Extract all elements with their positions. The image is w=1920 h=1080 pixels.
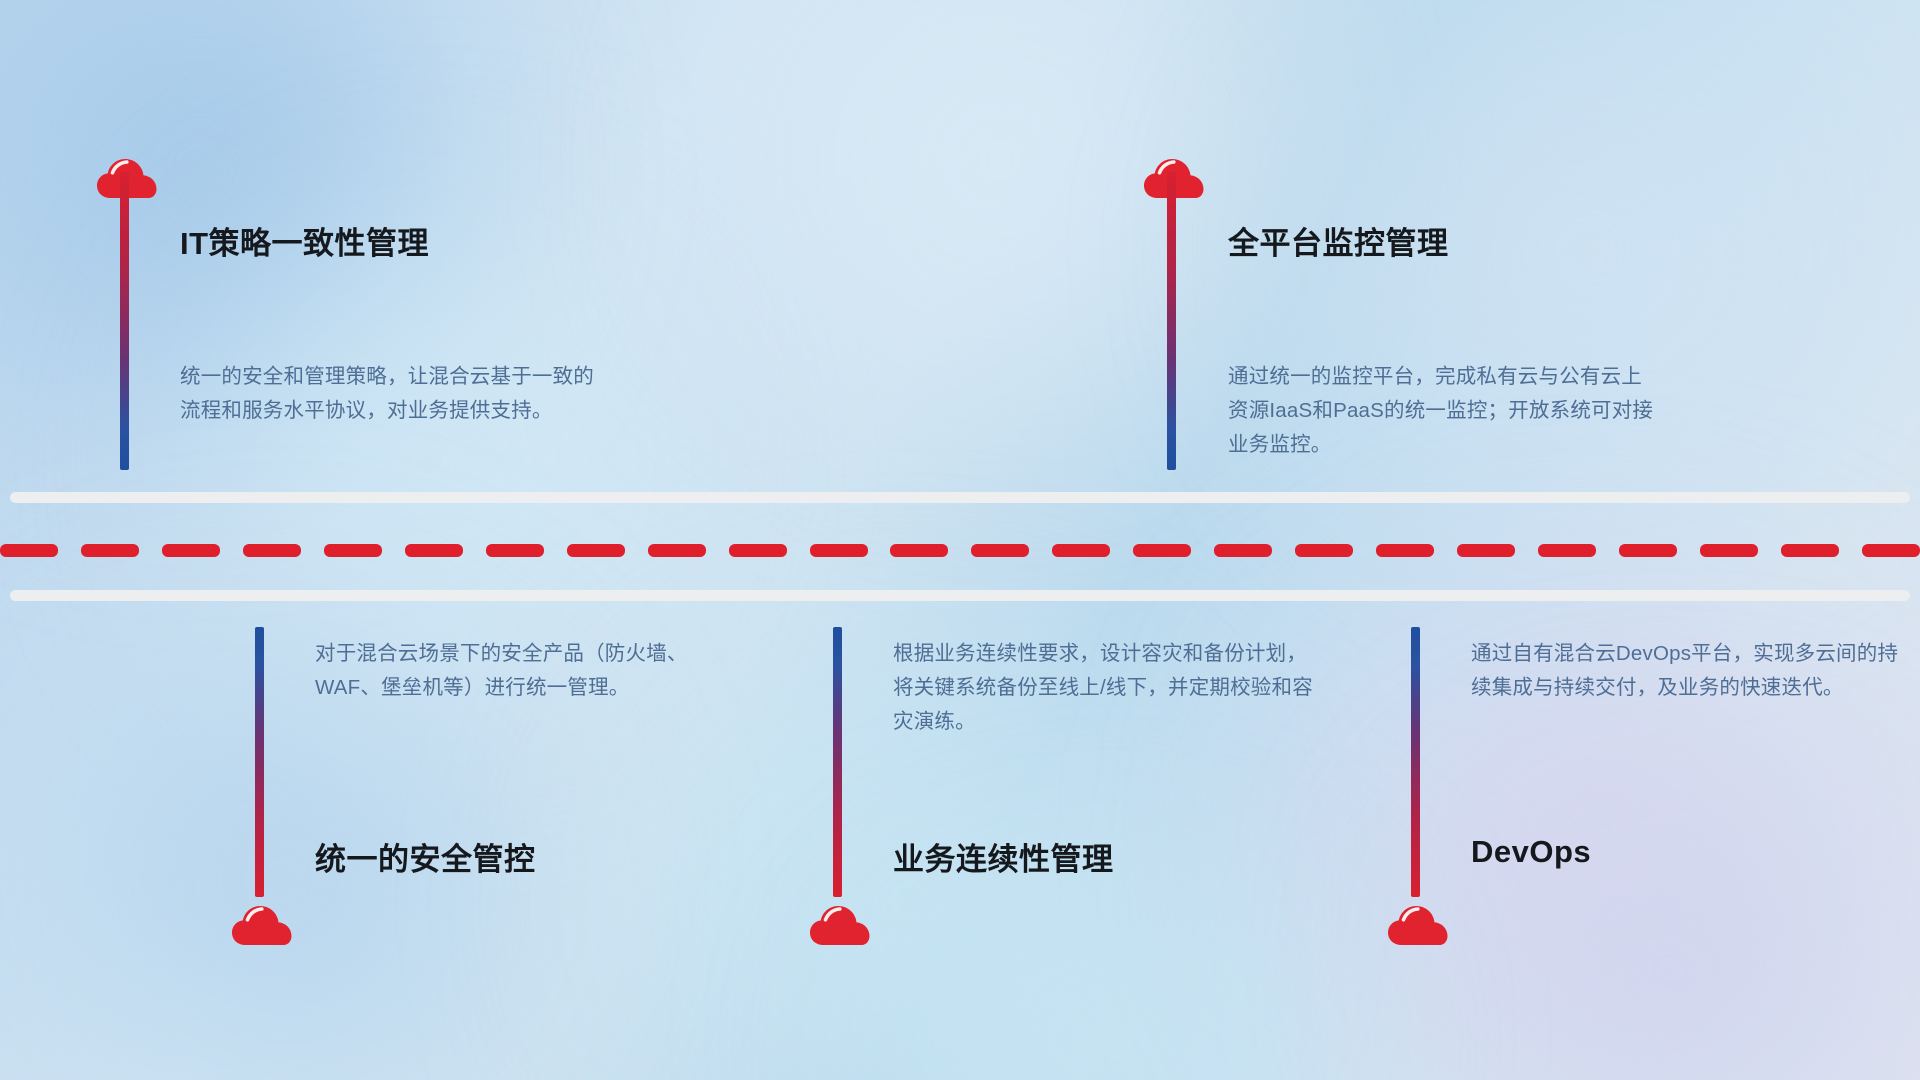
road-dash-segment — [162, 544, 220, 557]
road-dash-segment — [1133, 544, 1191, 557]
bottom-card-3[interactable]: 通过自有混合云DevOps平台，实现多云间的持续集成与持续交付，及业务的快速迭代… — [0, 612, 700, 1080]
road-divider — [0, 488, 1920, 612]
road-dash-segment — [810, 544, 868, 557]
road-dash-segment — [81, 544, 139, 557]
road-dash-segment — [1700, 544, 1758, 557]
road-dash-segment — [1457, 544, 1515, 557]
cloud-icon — [1387, 902, 1449, 946]
cloud-icon — [809, 902, 871, 946]
top-row: IT策略一致性管理 统一的安全和管理策略，让混合云基于一致的流程和服务水平协议，… — [0, 0, 1920, 488]
timeline-stem — [120, 172, 129, 470]
bottom-card-2-heading: 业务连续性管理 — [893, 834, 1114, 879]
road-dash-segment — [1052, 544, 1110, 557]
bottom-row: 对于混合云场景下的安全产品（防火墙、WAF、堡垒机等）进行统一管理。 统一的安全… — [0, 612, 1920, 1080]
road-edge-top — [10, 492, 1910, 503]
road-dash-segment — [405, 544, 463, 557]
road-edge-bottom — [10, 590, 1910, 601]
road-dash-segment — [324, 544, 382, 557]
road-dash-segment — [243, 544, 301, 557]
timeline-stem — [833, 627, 842, 897]
top-card-3[interactable]: 容器平台管理 完成混合云场景下跨云的容器平台管理，将工作负载在多云之间自由迁移。 — [940, 0, 1580, 488]
road-dashed-centerline — [0, 544, 1920, 557]
road-dash-segment — [486, 544, 544, 557]
road-dash-segment — [1781, 544, 1839, 557]
timeline-stem — [1411, 627, 1420, 897]
road-dash-segment — [567, 544, 625, 557]
bottom-card-3-heading: DevOps — [1471, 834, 1591, 870]
top-card-1-heading: IT策略一致性管理 — [180, 218, 429, 263]
road-dash-segment — [1376, 544, 1434, 557]
road-dash-segment — [890, 544, 948, 557]
road-dash-segment — [1214, 544, 1272, 557]
road-dash-segment — [729, 544, 787, 557]
bottom-card-2-body: 根据业务连续性要求，设计容灾和备份计划，将关键系统备份至线上/线下，并定期校验和… — [893, 637, 1323, 739]
road-dash-segment — [1619, 544, 1677, 557]
road-dash-segment — [971, 544, 1029, 557]
road-dash-segment — [1862, 544, 1920, 557]
bottom-card-3-body: 通过自有混合云DevOps平台，实现多云间的持续集成与持续交付，及业务的快速迭代… — [1471, 637, 1901, 705]
road-dash-segment — [1295, 544, 1353, 557]
road-dash-segment — [0, 544, 58, 557]
road-dash-segment — [1538, 544, 1596, 557]
road-dash-segment — [648, 544, 706, 557]
